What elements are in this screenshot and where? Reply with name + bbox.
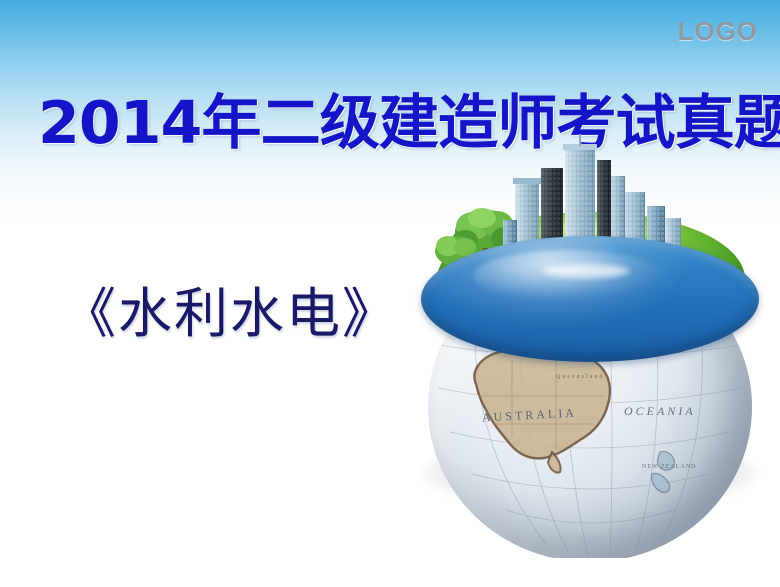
logo-text: LOGO xyxy=(677,16,758,47)
water-glint-highlight xyxy=(543,264,629,278)
page-subtitle: 《水利水电》 xyxy=(62,282,398,346)
presentation-slide: LOGO 2014年二级建造师考试真题及答案 《水利水电》 xyxy=(0,0,780,587)
globe-illustration: AUSTRALIA OCEANIA NEW ZEALAND Queensland… xyxy=(415,160,765,520)
new-zealand-islands-icon xyxy=(646,448,688,496)
